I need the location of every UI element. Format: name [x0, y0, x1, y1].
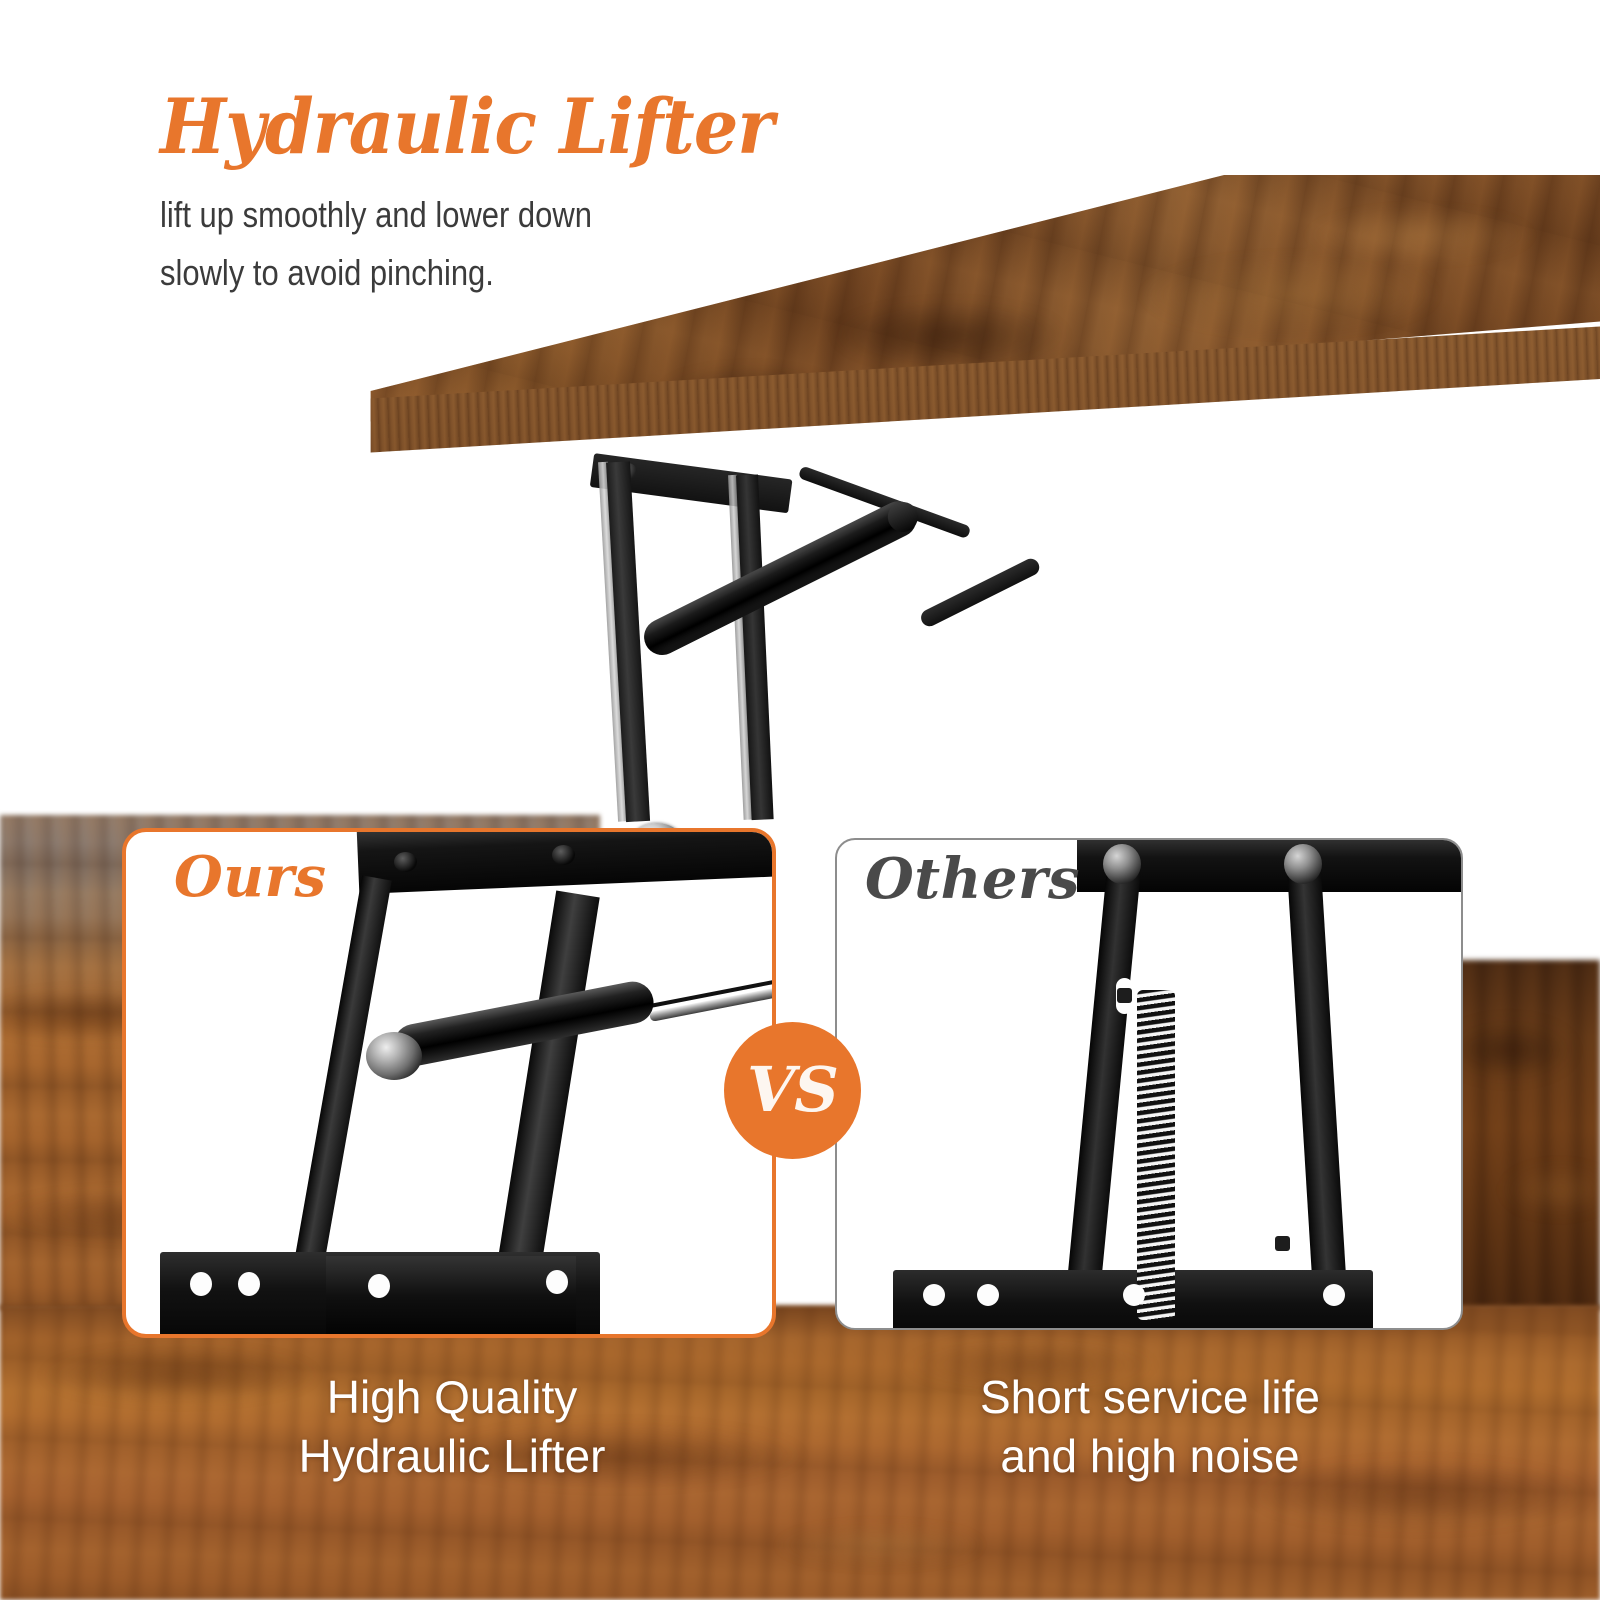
- others-lift-arm-right: [1287, 867, 1348, 1318]
- ours-bolt-hole-icon: [552, 845, 575, 865]
- gas-strut-cylinder: [638, 495, 923, 661]
- page-title: Hydraulic Lifter: [160, 82, 773, 171]
- wood-grain-right-detail: [1449, 960, 1600, 1310]
- caption-others: Short service life and high noise: [835, 1368, 1465, 1486]
- others-base-hole-icon: [923, 1284, 945, 1306]
- others-base-hole-icon: [977, 1284, 999, 1306]
- others-base-hole-icon: [1323, 1284, 1345, 1306]
- ours-gas-strut-cylinder: [390, 978, 657, 1070]
- ours-bolt-hole-icon: [394, 852, 417, 872]
- ours-base-hole-icon: [238, 1272, 260, 1296]
- others-arm-slot-icon: [1116, 978, 1133, 1014]
- others-rivet-icon: [1103, 844, 1141, 884]
- caption-ours: High Quality Hydraulic Lifter: [122, 1368, 782, 1486]
- ours-base-hole-icon: [190, 1272, 212, 1296]
- coil-spring-coils: [1137, 990, 1175, 1320]
- product-feature-graphic: Hydraulic Lifter lift up smoothly and lo…: [0, 0, 1600, 1600]
- comparison-panel-ours[interactable]: Ours: [122, 828, 776, 1338]
- panel-label-ours: Ours: [174, 844, 327, 910]
- vs-badge-label: VS: [747, 1059, 838, 1121]
- others-rivet-icon: [1284, 844, 1322, 884]
- panel-label-others: Others: [865, 846, 1080, 912]
- comparison-panel-others[interactable]: Others: [835, 838, 1463, 1330]
- ours-base-plate-inner: [326, 1256, 576, 1338]
- ours-base-hole-icon: [368, 1274, 390, 1298]
- others-arm-slot-icon: [1274, 1226, 1291, 1262]
- ours-strut-pivot-bolt: [366, 1032, 422, 1080]
- vs-badge: VS: [724, 1022, 861, 1159]
- others-base-hole-icon: [1123, 1284, 1145, 1306]
- ours-base-hole-icon: [546, 1270, 568, 1294]
- gas-strut-rod: [918, 556, 1042, 629]
- coil-spring-icon: [1137, 990, 1175, 1320]
- page-subtitle: lift up smoothly and lower down slowly t…: [160, 186, 592, 303]
- others-lift-arm-left: [1064, 866, 1141, 1317]
